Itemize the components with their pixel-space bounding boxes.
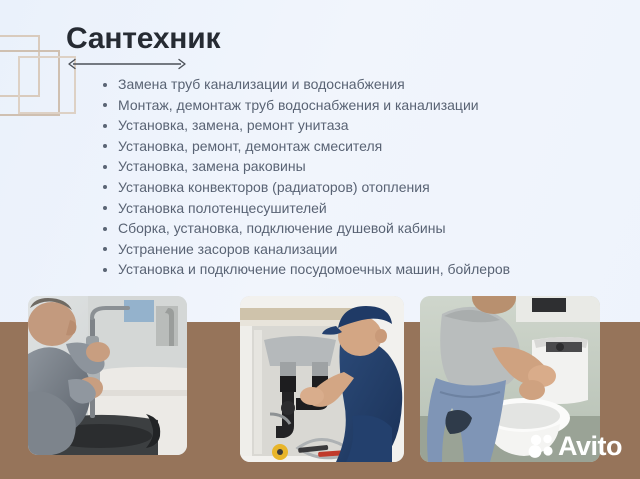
list-item: Установка, ремонт, демонтаж смесителя (100, 136, 620, 157)
list-item: Сборка, установка, подключение душевой к… (100, 218, 620, 239)
list-item: Установка конвекторов (радиаторов) отопл… (100, 177, 620, 198)
list-item: Замена труб канализации и водоснабжения (100, 74, 620, 95)
list-item: Устранение засоров канализации (100, 239, 620, 260)
decorative-square-2 (0, 50, 60, 116)
photo-faucet-install (28, 296, 187, 455)
list-item: Установка и подключение посудомоечных ма… (100, 259, 620, 280)
page-title: Сантехник (66, 22, 486, 56)
title-block: Сантехник (66, 22, 486, 70)
photo-toilet-repair (420, 296, 600, 462)
list-item: Установка, замена, ремонт унитаза (100, 115, 620, 136)
decorative-square-1 (0, 35, 40, 97)
photo-under-sink-repair (240, 296, 404, 462)
list-item: Установка полотенцесушителей (100, 198, 620, 219)
double-arrow-icon (66, 58, 188, 70)
list-item: Установка, замена раковины (100, 156, 620, 177)
list-item: Монтаж, демонтаж труб водоснабжения и ка… (100, 95, 620, 116)
slide-canvas: Сантехник Замена труб канализации и водо… (0, 0, 640, 479)
services-list: Замена труб канализации и водоснабжения … (100, 74, 620, 280)
